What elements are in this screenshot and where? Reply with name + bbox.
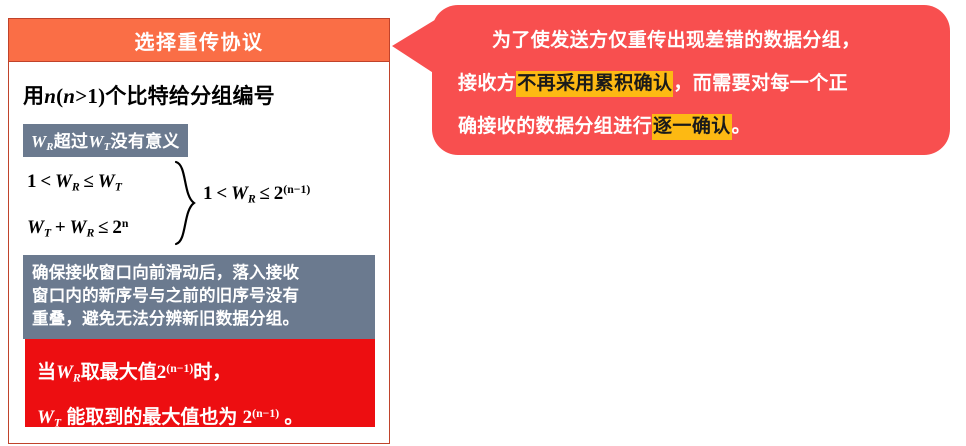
callout-line-3: 确接收的数据分组进行逐一确认。 (458, 105, 924, 148)
f1-lt: < (40, 171, 51, 192)
f1-one: 1 (27, 171, 37, 192)
formula-block: 1 < WR ≤ WT WT + WR ≤ 2n 1 < WR ≤ 2(n−1) (21, 161, 377, 251)
formula-line-2: WT + WR ≤ 2n (27, 203, 177, 245)
callout-line2-b: ，而需要对每一个正 (673, 73, 848, 94)
fr-le: ≤ (260, 183, 270, 204)
numbering-heading: 用n(n>1)个比特给分组编号 (23, 80, 377, 110)
heading-var-n: n (44, 84, 56, 108)
card-header: 选择重传协议 (9, 19, 389, 62)
fr-sup: (n−1) (283, 183, 310, 196)
rb1-wr: W (56, 362, 73, 383)
pill-wt: W (88, 132, 103, 151)
fr-lt: < (216, 183, 227, 204)
fr-two: 2 (274, 183, 284, 204)
callout-highlight-1: 不再采用累积确认 (516, 71, 673, 97)
f2-two: 2 (112, 217, 122, 238)
max-value-red-box: 当WR取最大值2(n−1)时， WT 能取到的最大值也为 2(n−1) 。 (25, 339, 375, 427)
f2-le: ≤ (98, 217, 108, 238)
f1-wr: W (55, 171, 72, 192)
f2-wr: W (70, 217, 87, 238)
rb2-two: 2 (243, 408, 253, 429)
gray-note-box: 确保接收窗口向前滑动后，落入接收 窗口内的新序号与之前的旧序号没有 重叠，避免无… (23, 255, 375, 339)
red-box-line-2: WT 能取到的最大值也为 2(n−1) 。 (37, 396, 365, 441)
callout-line2-a: 接收方 (458, 73, 516, 94)
card-header-title: 选择重传协议 (135, 26, 264, 55)
rb2-wt-sub: T (54, 417, 61, 430)
fr-wr: W (231, 183, 248, 204)
callout-line-1: 为了使发送方仅重传出现差错的数据分组， (458, 19, 924, 62)
explanation-callout: 为了使发送方仅重传出现差错的数据分组， 接收方不再采用累积确认，而需要对每一个正… (432, 5, 950, 155)
callout-line-2: 接收方不再采用累积确认，而需要对每一个正 (458, 62, 924, 105)
pill-mid: 超过 (54, 132, 89, 151)
f2-sup-n: n (122, 217, 129, 230)
f1-le: ≤ (84, 171, 94, 192)
rb2-suffix: 。 (284, 408, 303, 429)
f1-wr-sub: R (72, 180, 80, 193)
formula-line-1: 1 < WR ≤ WT (27, 161, 177, 203)
formula-result: 1 < WR ≤ 2(n−1) (203, 183, 310, 206)
callout-line1-text: 为了使发送方仅重传出现差错的数据分组， (492, 30, 861, 51)
rb1-sup: (n−1) (166, 362, 193, 375)
heading-gt: > (75, 84, 87, 108)
selective-repeat-card: 选择重传协议 用n(n>1)个比特给分组编号 WR超过WT没有意义 1 < WR… (8, 18, 390, 444)
rb1-suffix: 时， (193, 362, 231, 383)
rb1-prefix: 当 (37, 362, 56, 383)
heading-suffix: 个比特给分组编号 (105, 85, 275, 108)
f2-plus: + (55, 217, 66, 238)
rb2-wt: W (37, 408, 54, 429)
gray-note-line: 重叠，避免无法分辨新旧数据分组。 (32, 308, 366, 331)
pill-wr: W (31, 132, 46, 151)
red-box-line-1: 当WR取最大值2(n−1)时， (37, 351, 365, 396)
gray-note-line: 确保接收窗口向前滑动后，落入接收 (32, 262, 366, 285)
heading-one: 1 (87, 84, 98, 108)
callout-highlight-2: 逐一确认 (652, 114, 732, 140)
fr-wr-sub: R (248, 192, 256, 205)
rb2-sup: (n−1) (252, 407, 279, 420)
curly-brace-icon (173, 159, 199, 247)
heading-var-n2: n (63, 84, 75, 108)
rb2-mid: 能取到的最大值也为 (66, 408, 237, 429)
wr-wt-label: WR超过WT没有意义 (23, 124, 188, 157)
callout-line3-a: 确接收的数据分组进行 (458, 116, 652, 137)
gray-note-line: 窗口内的新序号与之前的旧序号没有 (32, 285, 366, 308)
formula-stack: 1 < WR ≤ WT WT + WR ≤ 2n (27, 161, 177, 245)
heading-prefix: 用 (23, 85, 44, 108)
rb1-two: 2 (157, 362, 167, 383)
pill-wr-sub: R (46, 142, 53, 153)
callout-line3-b: 。 (732, 116, 751, 137)
f2-wr-sub: R (86, 226, 94, 239)
f2-wt: W (27, 217, 44, 238)
f2-wt-sub: T (44, 226, 51, 239)
f1-wt: W (98, 171, 115, 192)
gray-pill-row: WR超过WT没有意义 (21, 124, 377, 157)
f1-wt-sub: T (115, 180, 122, 193)
callout-text: 为了使发送方仅重传出现差错的数据分组， 接收方不再采用累积确认，而需要对每一个正… (458, 19, 924, 148)
pill-tail: 没有意义 (111, 132, 180, 151)
fr-one: 1 (203, 183, 213, 204)
card-body: 用n(n>1)个比特给分组编号 WR超过WT没有意义 1 < WR ≤ WT W… (9, 62, 389, 339)
rb1-wr-sub: R (73, 371, 81, 384)
rb1-mid: 取最大值 (81, 362, 157, 383)
pill-wt-sub: T (104, 142, 111, 153)
